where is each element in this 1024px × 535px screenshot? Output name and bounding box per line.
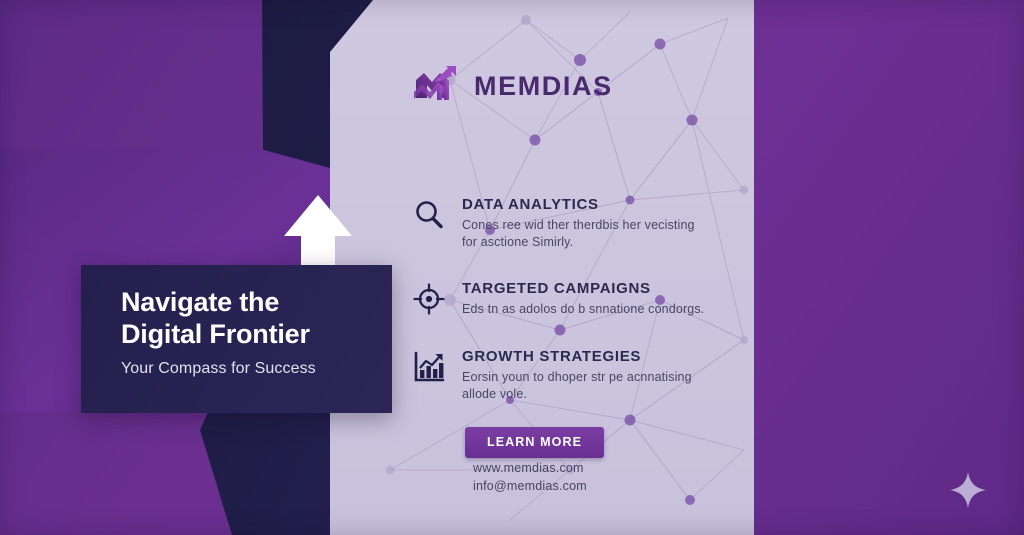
feature-title: DATA ANALYTICS <box>462 196 712 213</box>
contact-info: www.memdias.com info@memdias.com <box>473 459 587 495</box>
brand-name: MEMDIAS <box>474 71 613 102</box>
brand-logo: MEMDIAS <box>412 62 613 110</box>
subheadline: Your Compass for Success <box>121 360 366 378</box>
website-link[interactable]: www.memdias.com <box>473 459 587 477</box>
email-link[interactable]: info@memdias.com <box>473 477 587 495</box>
feature-list: DATA ANALYTICS Cones ree wid ther therdb… <box>412 196 712 432</box>
feature-item-targeted-campaigns: TARGETED CAMPAIGNS Eds tn as adolos do b… <box>412 280 712 318</box>
headline-line-2: Digital Frontier <box>121 319 366 351</box>
headline-line-1: Navigate the <box>121 287 366 319</box>
feature-description: Cones ree wid ther therdbis her vecistin… <box>462 217 712 250</box>
headline-card: Navigate the Digital Frontier Your Compa… <box>81 265 392 413</box>
feature-item-data-analytics: DATA ANALYTICS Cones ree wid ther therdb… <box>412 196 712 250</box>
feature-title: GROWTH STRATEGIES <box>462 348 712 365</box>
feature-item-growth-strategies: GROWTH STRATEGIES Eorsin youn to dhoper … <box>412 348 712 402</box>
feature-description: Eorsin youn to dhoper str pe acnnatising… <box>462 369 712 402</box>
learn-more-button[interactable]: LEARN MORE <box>465 427 604 458</box>
marketing-banner: MEMDIAS DATA ANALYTICS Cones ree wid the… <box>0 0 1024 535</box>
four-point-sparkle-icon <box>948 470 988 510</box>
feature-title: TARGETED CAMPAIGNS <box>462 280 704 297</box>
feature-description: Eds tn as adolos do b snnatione condorgs… <box>462 301 704 318</box>
